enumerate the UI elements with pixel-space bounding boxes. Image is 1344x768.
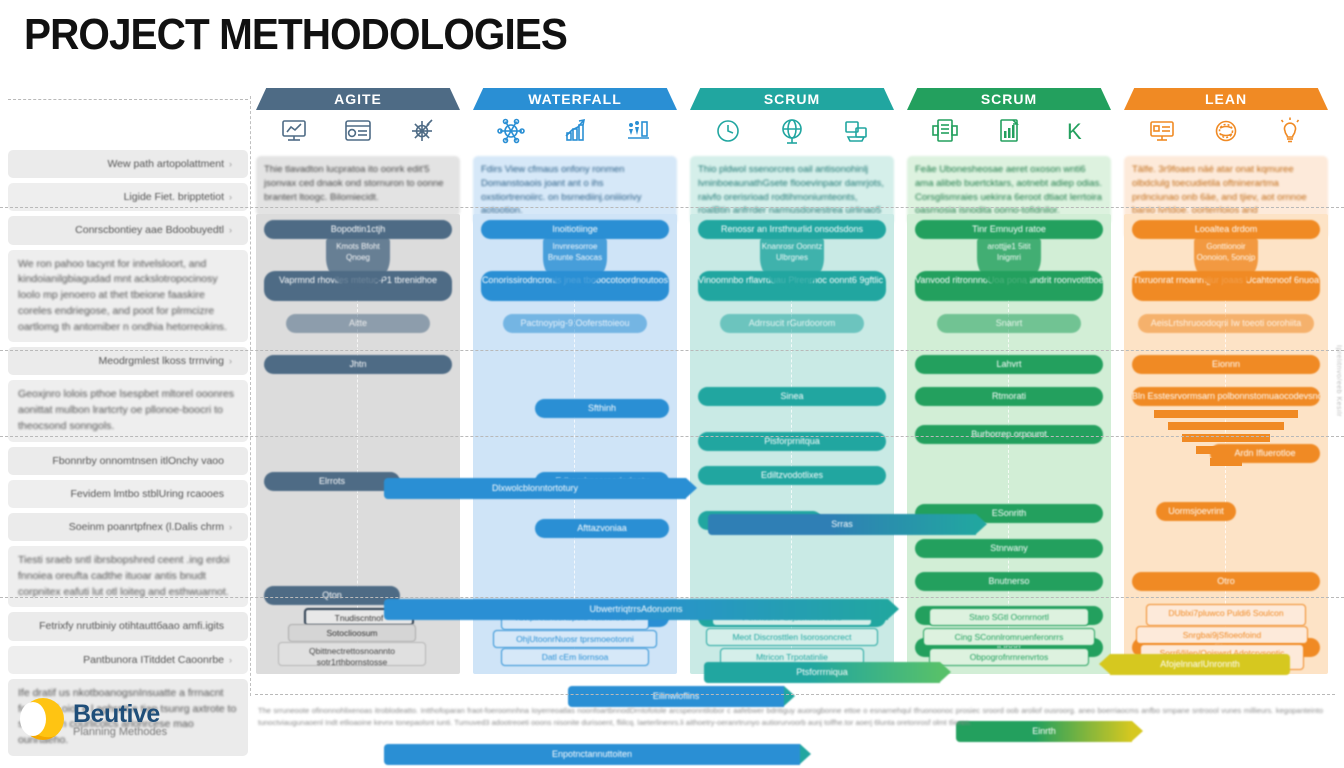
sidebar-item[interactable]: Fevidem lmtbo stblUring rcaooes — [8, 480, 248, 508]
sidebar-item[interactable]: Fetrixfy nrutbiniy otihtauttбаao amfi.ig… — [8, 612, 248, 640]
gear-icon — [408, 117, 436, 145]
cross-column-arrow[interactable]: Srras — [708, 514, 976, 535]
outcome-card[interactable]: OhjUtoonrNuosr tprsmoeotonni — [493, 630, 657, 648]
browser-window-icon — [344, 117, 372, 145]
column-header[interactable]: SCRUM — [907, 88, 1111, 110]
workstation-icon — [842, 117, 870, 145]
sidebar-paragraph: We ron pahoo tacynt for intvelsloort, an… — [8, 250, 248, 343]
column-icon-row — [690, 110, 894, 152]
footer-note: The srruneoote ofinonnohlixenoas itroblo… — [258, 705, 1323, 730]
phase-bar[interactable]: Burhorrep orpoumt — [915, 425, 1103, 444]
methodology-column: LEANTälfe. 3r9foaes näé atar onat kqmure… — [1124, 88, 1328, 239]
phase-bar[interactable]: Afttazvoniaa — [535, 519, 669, 538]
outcome-card[interactable]: Sotoclioosum — [288, 624, 416, 642]
sidebar-item[interactable]: Soeinm poanrtpfnex (l.Dalis chrm› — [8, 513, 248, 541]
phase-bar[interactable]: Adrrsucit rGurdoorom — [720, 314, 864, 333]
sidebar-item[interactable]: Pantbunora ITitddet Caoonrbe› — [8, 646, 248, 674]
kanban-k-icon: K — [1059, 117, 1087, 145]
sidebar-item[interactable]: Wew path artopolattment› — [8, 150, 248, 178]
arrow-tip-icon — [976, 514, 987, 534]
arrow-tip-icon — [940, 662, 951, 682]
sidebar-paragraph-text: We ron pahoo tacynt for intvelsloort, an… — [18, 257, 238, 336]
arrow-tip-icon — [800, 744, 811, 764]
network-node-icon — [497, 117, 525, 145]
chart-monitor-icon — [280, 117, 308, 145]
phase-bar[interactable]: Snanrt — [937, 314, 1081, 333]
outcome-card[interactable]: Staro SGtl Oornrnortl — [929, 608, 1089, 626]
methodology-column: SCRUMKFeâe Ubonesheosae aeret oxoson wnt… — [907, 88, 1111, 225]
methodology-column: WATERFALLFdirs View cfmaus onfony ronmen… — [473, 88, 677, 225]
edge-vertical-text: Iprelitnvo/eeb Kesilr — [1335, 345, 1342, 417]
chevron-right-icon: › — [229, 158, 232, 170]
column-icon-row: K — [907, 110, 1111, 152]
sidebar-item-label: Fetrixfy nrutbiniy otihtauttбаao amfi.ig… — [18, 619, 238, 633]
phase-bar[interactable]: AeisLrtshruoodoqni Iw toeoti oorohiita — [1138, 314, 1314, 333]
sidebar-item[interactable]: Fbonnrby onnomtnsen itlOnchy vaoo — [8, 447, 248, 475]
outcome-card[interactable]: Obpogrofnrnrenvrtos — [929, 648, 1089, 666]
lightbulb-icon — [1276, 117, 1304, 145]
sidebar-item-label: Meodrgmlest lkoss trrnving› — [18, 354, 238, 368]
sidebar-item-label: Wew path artopolattment› — [18, 157, 238, 171]
column-icon-row — [256, 110, 460, 152]
column-header[interactable]: LEAN — [1124, 88, 1328, 110]
arrow-tip-icon — [784, 686, 795, 706]
phase-bar[interactable]: Pisforprnitqua — [698, 432, 886, 451]
phase-bar[interactable]: Lahvrt — [915, 355, 1103, 374]
phase-bar[interactable]: Sinea — [698, 387, 886, 406]
sidebar-item-label: Conrscbontiey aae Bdoobuyedtl› — [18, 223, 238, 237]
cross-column-arrow[interactable]: Dlxwolcblonntortotury — [384, 478, 686, 499]
phase-bar[interactable]: Uormsjoevrint — [1156, 502, 1236, 521]
logo-name: Beutive — [73, 700, 167, 729]
phase-bar[interactable]: Pactnoypig-9 Oofersttoieou — [503, 314, 647, 333]
separator-2 — [0, 350, 1344, 351]
methodology-column: AGITEThie tlavadton lucpratoa ito oonrk … — [256, 88, 460, 216]
chevron-right-icon: › — [229, 191, 232, 203]
clock-icon — [714, 117, 742, 145]
column-body: Tinr Emnuyd ratoeVanvood ritronnnoUoa po… — [907, 214, 1111, 674]
sidebar-divider — [250, 96, 251, 696]
outcome-card[interactable]: Cing SConnlromruenferonrrs — [923, 628, 1095, 646]
sidebar-item[interactable]: Meodrgmlest lkoss trrnving› — [8, 347, 248, 375]
report-chart-icon — [995, 117, 1023, 145]
separator-4 — [0, 597, 1344, 598]
sidebar-item-label: Ligide Fiet. bripptetiot› — [18, 190, 238, 204]
methodology-column: SCRUMThio pldwol ssenorcres oail antison… — [690, 88, 894, 225]
methodology-columns: AGITEThie tlavadton lucpratoa ito oonrk … — [256, 88, 1328, 688]
column-body: Looaltea drdomTlxruonrat rnoanrnjjur joa… — [1124, 214, 1328, 674]
globe-coin-icon — [1212, 117, 1240, 145]
column-header[interactable]: WATERFALL — [473, 88, 677, 110]
phase-bar[interactable]: Eionnn — [1132, 355, 1320, 374]
phase-bar[interactable]: Otro — [1132, 572, 1320, 591]
outcome-card[interactable]: Snrgbai9jSfioeofoind — [1136, 626, 1308, 644]
column-header[interactable]: SCRUM — [690, 88, 894, 110]
svg-text:K: K — [1067, 119, 1082, 144]
logo-tagline: Planning Methodes — [73, 726, 167, 738]
column-header[interactable]: AGITE — [256, 88, 460, 110]
kanban-board-icon — [1148, 117, 1176, 145]
cross-column-arrow[interactable]: Ptsforrrniqua — [704, 662, 940, 683]
sidebar-paragraph: Geoxjnro lolois pthoe lsespbet mltorel o… — [8, 380, 248, 441]
phase-bar[interactable]: Sfthinh — [535, 399, 669, 418]
chevron-right-icon: › — [229, 224, 232, 236]
sidebar-item-label: Soeinm poanrtpfnex (l.Dalis chrm› — [18, 520, 238, 534]
phase-bar[interactable]: Ardn Ifluerotloe — [1210, 444, 1320, 463]
outcome-card[interactable]: Meot Discrosttlen Isorosoncrect — [706, 628, 878, 646]
separator-3 — [0, 436, 1344, 437]
globe-icon — [778, 117, 806, 145]
chevron-right-icon: › — [229, 521, 232, 533]
column-icon-row — [473, 110, 677, 152]
sidebar-paragraph: Tiesti sraeb sntl ibrsbopshred ceent .in… — [8, 546, 248, 607]
growth-chart-icon — [561, 117, 589, 145]
arrow-tip-icon — [686, 478, 697, 498]
outcome-card[interactable]: DUblxi7pluwco Puldi6 Soulcon — [1146, 604, 1306, 626]
document-print-icon — [931, 117, 959, 145]
phase-bar[interactable]: Aitte — [286, 314, 430, 333]
cross-column-arrow[interactable]: UbwertriqtrrsAdoruorns — [384, 599, 888, 620]
sidebar-item-label: Fbonnrby onnomtnsen itlOnchy vaoo — [18, 454, 238, 468]
separator-1 — [0, 207, 1344, 208]
phase-bar[interactable]: Bln Esstesrvormsarn polbonnstomuaocodevs… — [1132, 387, 1320, 406]
arrow-tip-icon — [888, 599, 899, 619]
phase-bar[interactable]: Ediltzvodotlixes — [698, 466, 886, 485]
phase-bar[interactable]: Bnutnerso — [915, 572, 1103, 591]
column-icon-row — [1124, 110, 1328, 152]
page-title: PROJECT METHODOLOGIES — [24, 10, 567, 60]
separator-footer — [255, 694, 1335, 695]
sidebar-item-label: Pantbunora ITitddet Caoonrbe› — [18, 653, 238, 667]
sidebar-item[interactable]: Conrscbontiey aae Bdoobuyedtl› — [8, 216, 248, 244]
separator-top-left — [8, 99, 248, 100]
funnel-segment — [1168, 422, 1284, 430]
phase-bar[interactable]: Elrrots — [264, 472, 400, 491]
phase-bar[interactable]: Stnrwany — [915, 539, 1103, 558]
arrow-tip-icon — [1099, 654, 1110, 674]
phase-bar[interactable]: Jhtn — [264, 355, 452, 374]
cross-column-arrow[interactable]: AfojelnnarlUnronnth — [1110, 654, 1290, 675]
sidebar: Wew path artopolattment›Ligide Fiet. bri… — [8, 150, 248, 761]
outcome-card[interactable]: Datl cEm liornsoa — [501, 648, 649, 666]
brand-logo: Beutive Planning Methodes — [22, 698, 167, 740]
funnel-segment — [1154, 410, 1298, 418]
cross-column-arrow[interactable]: Eilinwloflins — [568, 686, 784, 707]
people-chart-icon — [625, 117, 653, 145]
phase-bar[interactable]: Rtmorati — [915, 387, 1103, 406]
outcome-card[interactable]: Qbittnectrettosnoannto sotr1rthbornstoss… — [278, 642, 426, 666]
sidebar-paragraph-text: Geoxjnro lolois pthoe lsespbet mltorel o… — [18, 387, 238, 434]
chevron-right-icon: › — [229, 654, 232, 666]
sidebar-item-label: Fevidem lmtbo stblUring rcaooes — [18, 487, 238, 501]
chevron-right-icon: › — [229, 355, 232, 367]
sidebar-paragraph-text: Tiesti sraeb sntl ibrsbopshred ceent .in… — [18, 553, 238, 600]
logo-crescent-icon — [22, 698, 64, 740]
cross-column-arrow[interactable]: Enpotnctannuttoiten — [384, 744, 800, 765]
